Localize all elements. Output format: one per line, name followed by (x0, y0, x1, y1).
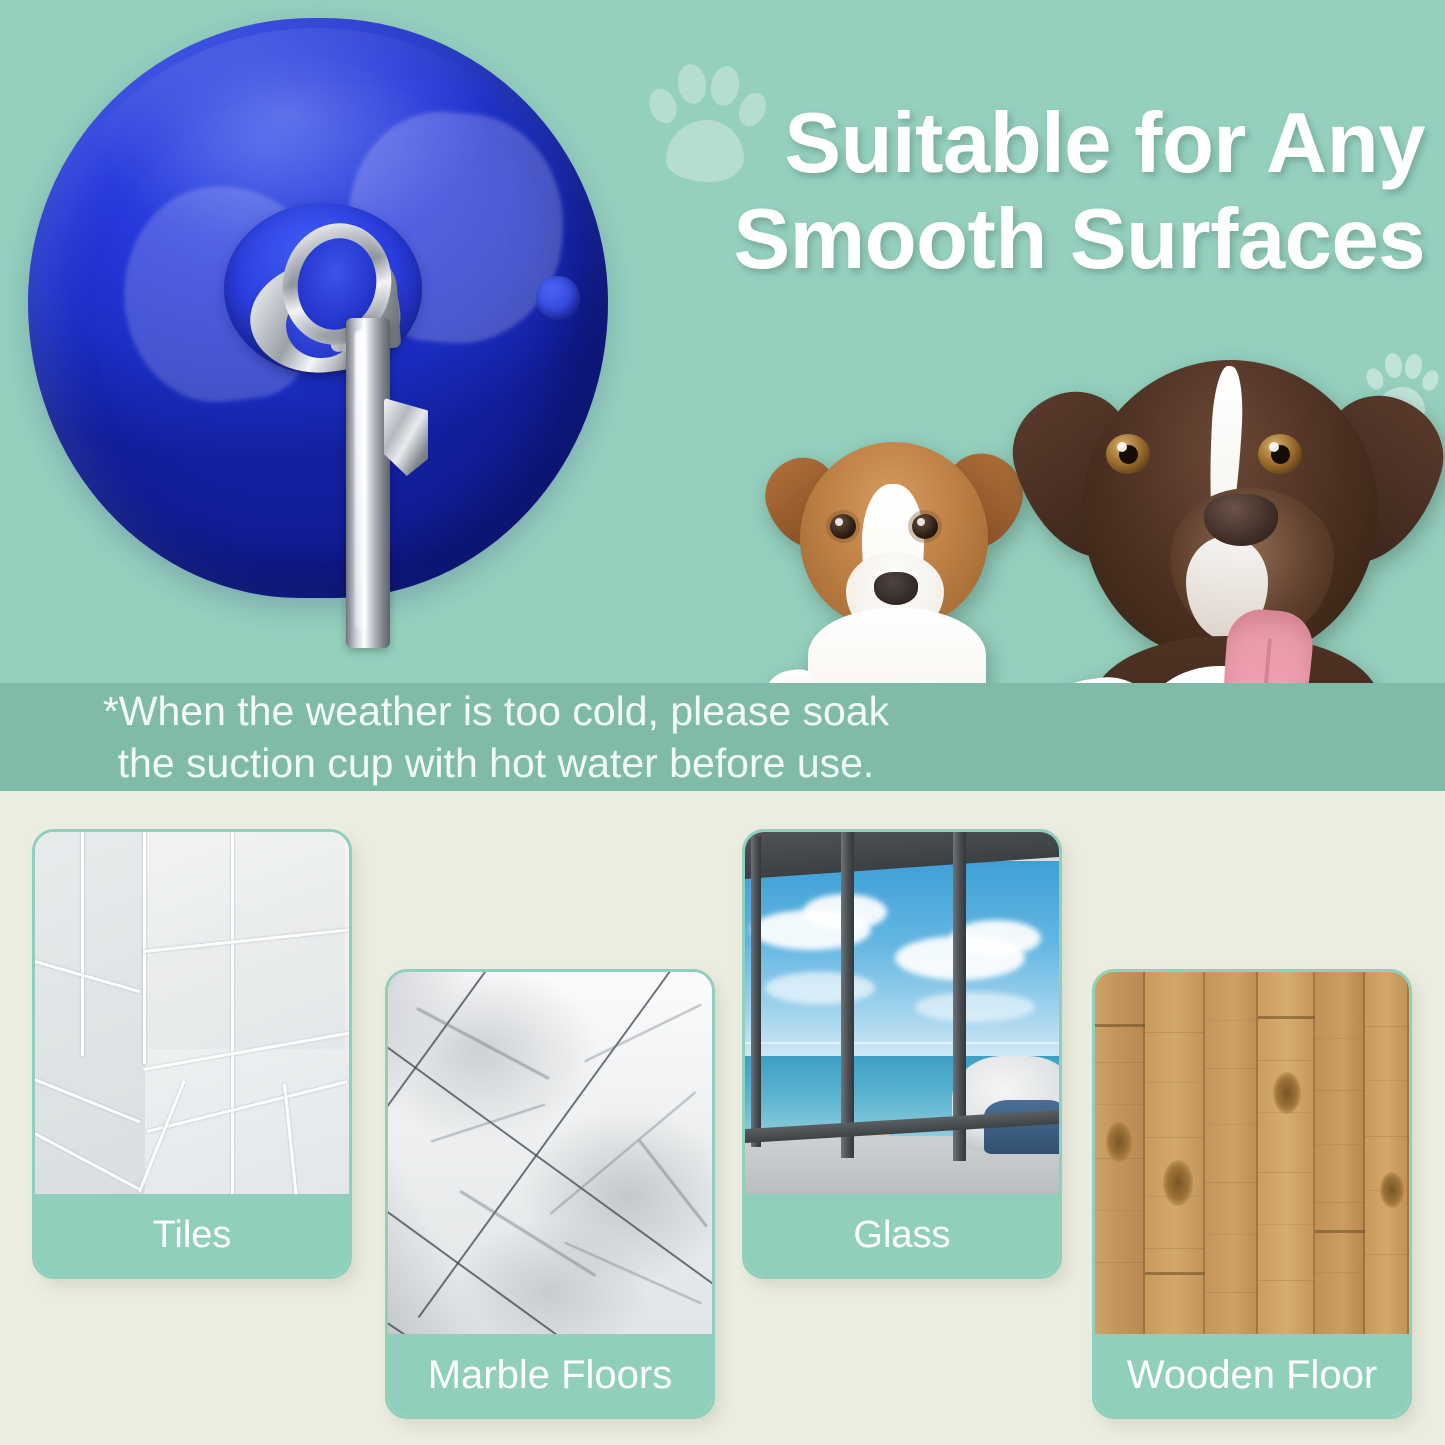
jr-chest (808, 608, 986, 683)
cold-weather-notice-banner: *When the weather is too cold, please so… (0, 683, 1445, 791)
suction-cup-air-nub (536, 276, 580, 320)
hero-section: Suitable for Any Smooth Surfaces (0, 0, 1445, 683)
dog-pointer-mix (1020, 348, 1440, 683)
notice-line-1: *When the weather is too cold, please so… (103, 688, 889, 734)
jr-eye-left (830, 514, 856, 539)
notice-text: *When the weather is too cold, please so… (0, 685, 978, 790)
card-label-marble-floors: Marble Floors (388, 1334, 712, 1416)
snap-hook-shaft (346, 318, 390, 648)
surface-card-glass[interactable]: Glass (742, 829, 1062, 1279)
dog-jack-russell (762, 432, 1030, 683)
card-label-wooden-floor: Wooden Floor (1095, 1334, 1409, 1416)
product-infographic: Suitable for Any Smooth Surfaces (0, 0, 1445, 1445)
surface-card-wooden-floor[interactable]: Wooden Floor (1092, 969, 1412, 1419)
headline-line-1: Suitable for Any (784, 96, 1425, 191)
jr-eye-right (912, 514, 938, 539)
snap-hook-shaft-gloss (355, 330, 366, 630)
pt-eye-left (1106, 434, 1150, 474)
notice-line-2: the suction cup with hot water before us… (14, 737, 978, 789)
jr-nose (874, 572, 918, 605)
wooden-floor-image (1095, 972, 1409, 1334)
surface-card-tiles[interactable]: Tiles (32, 829, 352, 1279)
headline-line-2: Smooth Surfaces (690, 192, 1425, 288)
surface-cards-section: Tiles Marble Floors (0, 791, 1445, 1445)
surface-card-marble-floors[interactable]: Marble Floors (385, 969, 715, 1419)
card-label-glass: Glass (745, 1194, 1059, 1276)
glass-image (745, 832, 1059, 1194)
tiles-image (35, 832, 349, 1194)
pt-eye-right (1258, 434, 1302, 474)
suction-cup-product-image (28, 18, 658, 683)
card-label-tiles: Tiles (35, 1194, 349, 1276)
marble-floors-image (388, 972, 712, 1334)
page-title: Suitable for Any Smooth Surfaces (690, 96, 1425, 288)
